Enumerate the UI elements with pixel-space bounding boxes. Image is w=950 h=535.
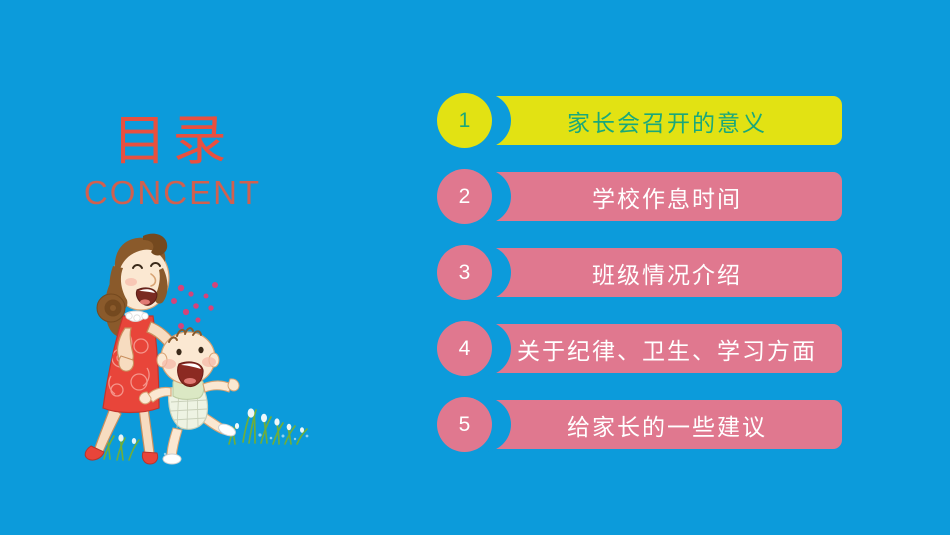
menu-label-3: 班级情况介绍 bbox=[562, 256, 742, 290]
menu-item-1[interactable]: 家长会召开的意义 1 bbox=[437, 96, 842, 145]
page-subtitle: CONCENT bbox=[0, 174, 345, 212]
mother-and-child-illustration bbox=[55, 230, 355, 475]
menu-label-2: 学校作息时间 bbox=[562, 180, 742, 214]
menu-number-badge-4[interactable]: 4 bbox=[437, 321, 492, 376]
menu-number-badge-3[interactable]: 3 bbox=[437, 245, 492, 300]
catalog-title-block: 目录 CONCENT bbox=[0, 110, 345, 212]
menu-number-5: 5 bbox=[459, 414, 471, 435]
menu-number-badge-2[interactable]: 2 bbox=[437, 169, 492, 224]
menu-label-1: 家长会召开的意义 bbox=[537, 104, 767, 138]
menu-number-badge-5[interactable]: 5 bbox=[437, 397, 492, 452]
menu-item-2[interactable]: 学校作息时间 2 bbox=[437, 172, 842, 221]
page-title: 目录 bbox=[0, 110, 345, 172]
menu-item-5[interactable]: 给家长的一些建议 5 bbox=[437, 400, 842, 449]
menu-number-4: 4 bbox=[459, 338, 471, 359]
menu-number-2: 2 bbox=[459, 186, 471, 207]
menu-bar-3[interactable]: 班级情况介绍 bbox=[462, 248, 842, 297]
catalog-menu-list: 家长会召开的意义 1 学校作息时间 2 班级情况介绍 3 bbox=[437, 96, 842, 449]
floating-dots-icon bbox=[171, 282, 218, 336]
menu-bar-5[interactable]: 给家长的一些建议 bbox=[462, 400, 842, 449]
menu-label-5: 给家长的一些建议 bbox=[537, 408, 767, 442]
menu-bar-4[interactable]: 关于纪律、卫生、学习方面 bbox=[462, 324, 842, 373]
menu-item-3[interactable]: 班级情况介绍 3 bbox=[437, 248, 842, 297]
menu-number-3: 3 bbox=[459, 262, 471, 283]
menu-number-badge-1[interactable]: 1 bbox=[437, 93, 492, 148]
menu-bar-2[interactable]: 学校作息时间 bbox=[462, 172, 842, 221]
slide-canvas: 目录 CONCENT bbox=[0, 0, 950, 535]
menu-label-4: 关于纪律、卫生、学习方面 bbox=[487, 332, 817, 366]
menu-number-1: 1 bbox=[459, 110, 471, 131]
menu-bar-1[interactable]: 家长会召开的意义 bbox=[462, 96, 842, 145]
menu-item-4[interactable]: 关于纪律、卫生、学习方面 4 bbox=[437, 324, 842, 373]
